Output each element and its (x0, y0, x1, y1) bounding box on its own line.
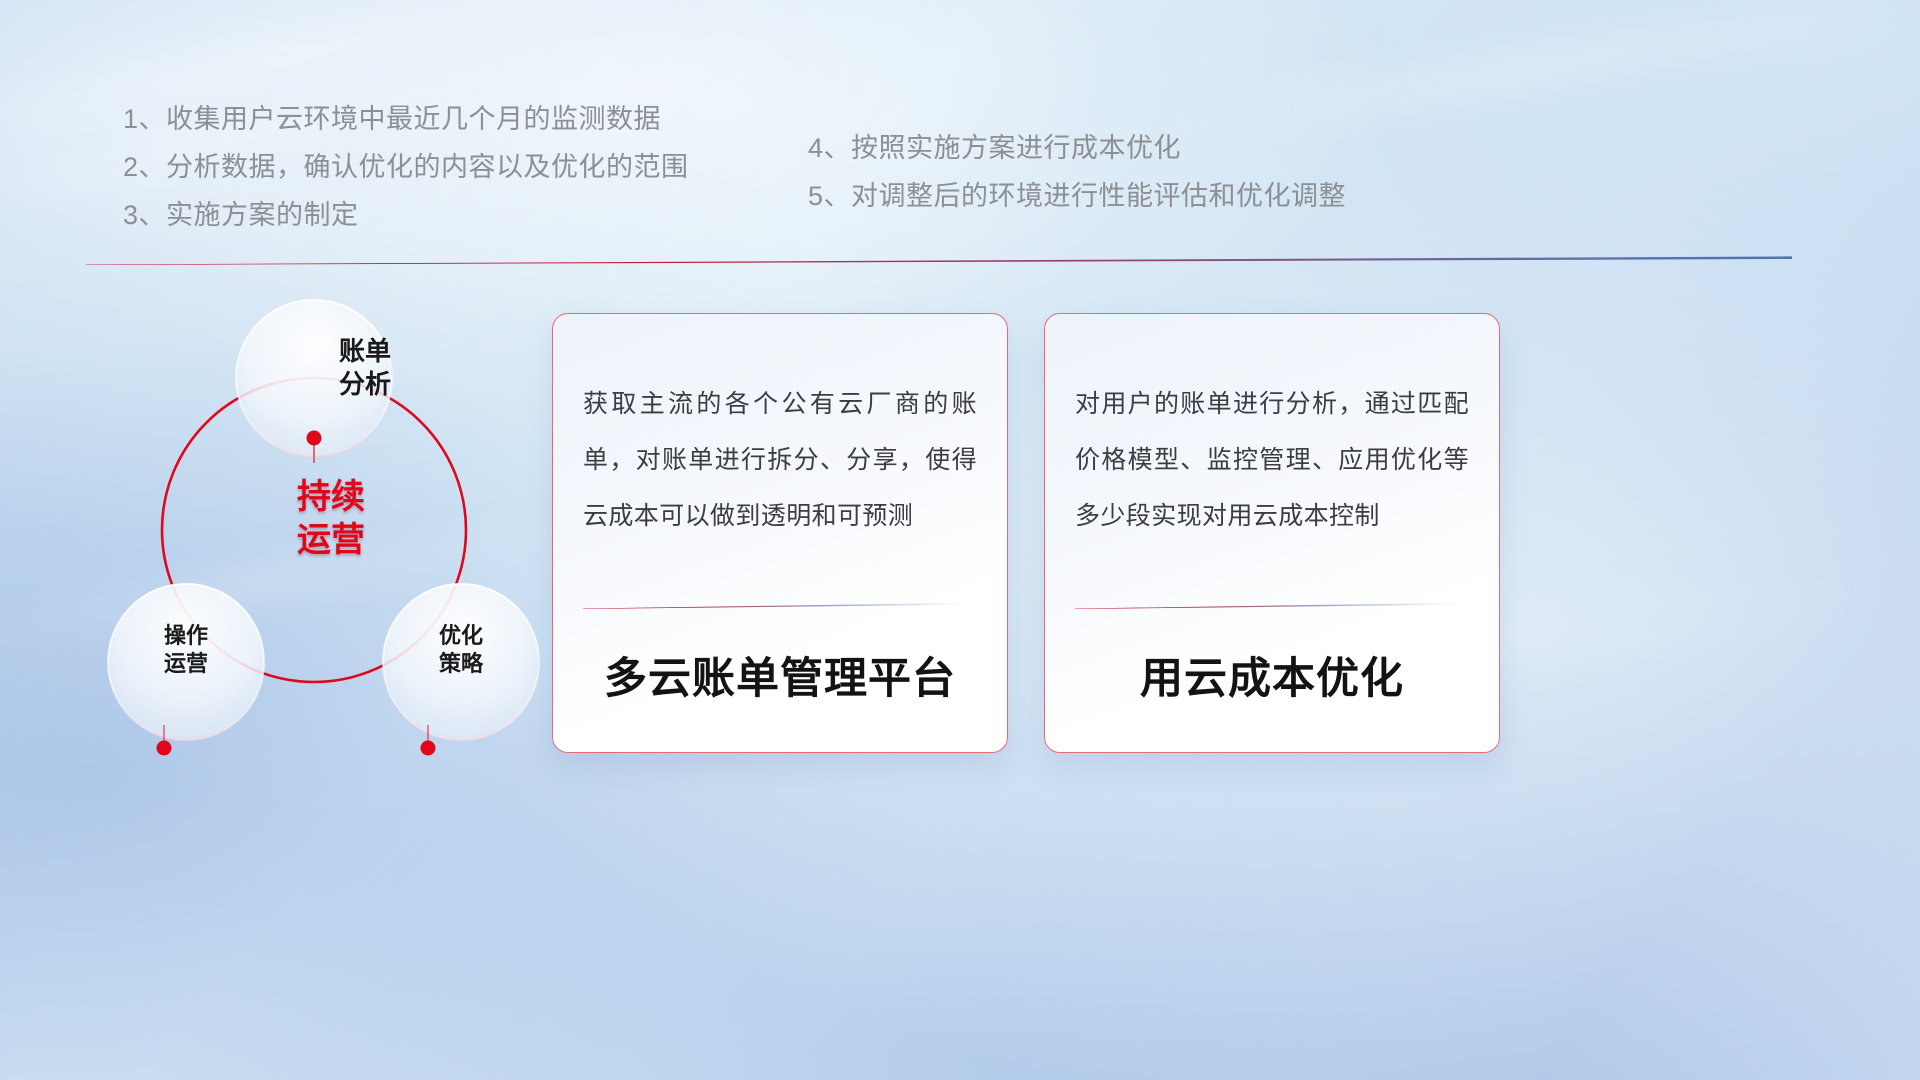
step-item-5: 5、对调整后的环境进行性能评估和优化调整 (808, 172, 1346, 220)
step-item-4: 4、按照实施方案进行成本优化 (808, 124, 1346, 172)
diagram-svg (78, 285, 548, 775)
ring-node-left (157, 741, 172, 756)
step-item-3: 3、实施方案的制定 (123, 191, 689, 239)
card-accent-rule (1075, 602, 1471, 609)
continuous-operations-diagram: 账单 分析 操作 运营 优化 策略 持续 运营 (78, 285, 548, 775)
card-accent-rule (583, 602, 979, 609)
steps-list-right: 4、按照实施方案进行成本优化 5、对调整后的环境进行性能评估和优化调整 (808, 124, 1346, 220)
step-item-2: 2、分析数据，确认优化的内容以及优化的范围 (123, 143, 689, 191)
card-title: 用云成本优化 (1045, 644, 1499, 706)
card-cloud-cost-optimization[interactable]: 对用户的账单进行分析，通过匹配价格模型、监控管理、应用优化等多少段实现对用云成本… (1044, 313, 1500, 753)
ring-node-right (421, 741, 436, 756)
bubble-operation-ops (108, 584, 264, 740)
steps-list-left: 1、收集用户云环境中最近几个月的监测数据 2、分析数据，确认优化的内容以及优化的… (123, 95, 689, 239)
card-multi-cloud-billing-platform[interactable]: 获取主流的各个公有云厂商的账单，对账单进行拆分、分享，使得云成本可以做到透明和可… (552, 313, 1008, 753)
step-item-1: 1、收集用户云环境中最近几个月的监测数据 (123, 95, 689, 143)
slide-canvas: 1、收集用户云环境中最近几个月的监测数据 2、分析数据，确认优化的内容以及优化的… (0, 0, 1920, 1080)
bubble-optimize-policy (383, 584, 539, 740)
card-body-text: 获取主流的各个公有云厂商的账单，对账单进行拆分、分享，使得云成本可以做到透明和可… (583, 376, 977, 544)
card-title: 多云账单管理平台 (553, 644, 1007, 706)
section-divider (86, 256, 1792, 265)
card-body-text: 对用户的账单进行分析，通过匹配价格模型、监控管理、应用优化等多少段实现对用云成本… (1075, 376, 1469, 544)
ring-node-top (307, 431, 322, 446)
